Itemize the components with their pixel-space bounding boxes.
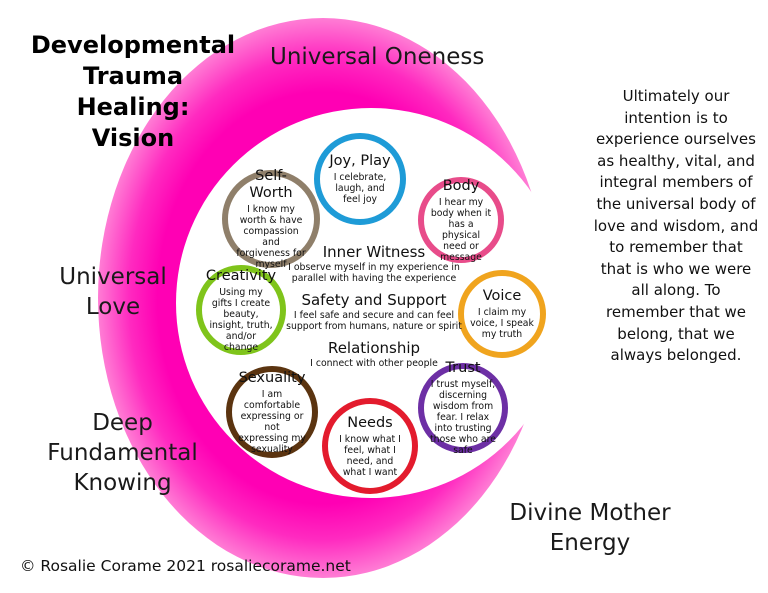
petal-title: Body [443,178,480,195]
petal-title: Joy, Play [329,153,390,170]
label-deep-line-2: Fundamental [20,438,225,468]
center-core-text: Inner Witness I observe myself in my exp… [286,243,462,393]
petal-title: Creativity [206,268,276,285]
label-deep-line-1: Deep [20,408,225,438]
petal-joy-play[interactable]: Joy, Play I celebrate, laugh, and feel j… [314,133,406,225]
petal-creativity[interactable]: Creativity Using my gifts I create beaut… [196,265,286,355]
label-divine-mother-energy: Divine Mother Energy [470,498,710,558]
label-divine-line-2: Energy [470,528,710,558]
center-heading-inner-witness: Inner Witness [323,243,426,261]
petal-body: I claim my voice, I speak my truth [470,307,534,340]
petal-body: Using my gifts I create beauty, insight,… [208,287,274,353]
petal-body: I know what I feel, what I need, and wha… [334,434,406,478]
page-title: Developmental Trauma Healing: Vision [8,30,258,154]
label-universal-love: Universal Love [18,262,208,322]
title-line-3: Healing: [8,92,258,123]
petal-title: Needs [347,415,392,432]
label-universal-oneness: Universal Oneness [270,42,520,72]
label-divine-line-1: Divine Mother [470,498,710,528]
center-body-relationship: I connect with other people [310,358,438,369]
petal-title: Self-Worth [234,168,308,202]
label-deep-fundamental-knowing: Deep Fundamental Knowing [20,408,225,498]
label-universal-love-line-2: Love [18,292,208,322]
center-heading-relationship: Relationship [328,339,420,357]
title-line-4: Vision [8,123,258,154]
copyright-notice: © Rosalie Corame 2021 rosaliecorame.net [20,557,351,575]
label-deep-line-3: Knowing [20,468,225,498]
center-body-inner-witness: I observe myself in my experience in par… [286,262,462,284]
intention-paragraph: Ultimately our intention is to experienc… [592,86,760,367]
petal-title: Voice [483,288,522,305]
petal-body: I celebrate, laugh, and feel joy [326,172,394,205]
center-body-safety-support: I feel safe and secure and can feel supp… [286,310,462,332]
petal-voice[interactable]: Voice I claim my voice, I speak my truth [458,270,546,358]
label-universal-love-line-1: Universal [18,262,208,292]
title-line-2: Trauma [8,61,258,92]
title-line-1: Developmental [8,30,258,61]
petal-needs[interactable]: Needs I know what I feel, what I need, a… [322,398,418,494]
center-heading-safety-support: Safety and Support [301,291,446,309]
petal-body: I am comfortable expressing or not expre… [238,389,306,455]
